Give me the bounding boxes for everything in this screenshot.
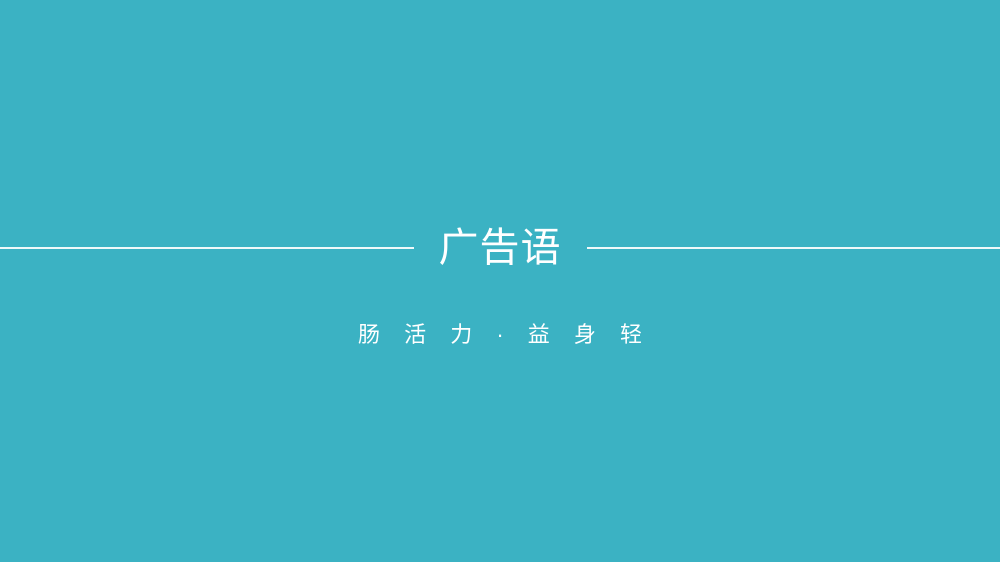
slide-subtitle-tagline: 肠 活 力 · 益 身 轻 [0, 318, 1000, 352]
slide-canvas: 广告语 肠 活 力 · 益 身 轻 [0, 0, 1000, 562]
title-divider-band: 广告语 [0, 226, 1000, 270]
divider-line-right [587, 247, 1000, 249]
page-title: 广告语 [414, 226, 587, 270]
divider-line-left [0, 247, 414, 249]
